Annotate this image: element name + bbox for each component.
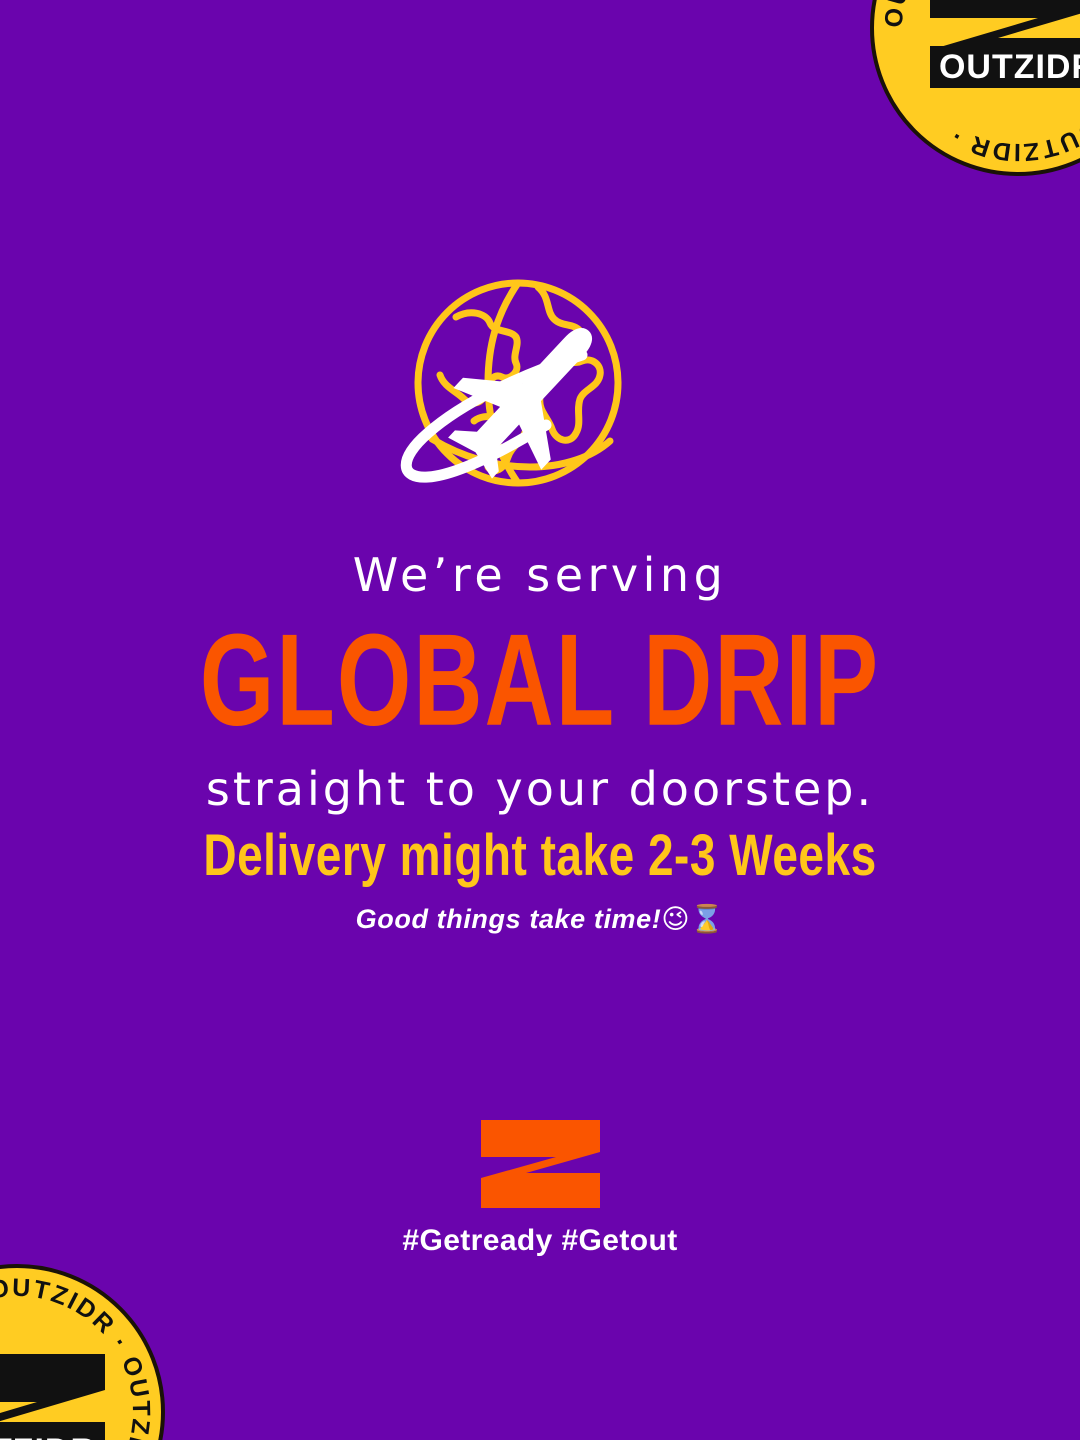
footer-block: #Getready #Getout xyxy=(0,1118,1080,1258)
svg-text:OUTZIDR: OUTZIDR xyxy=(0,1432,96,1440)
poster-canvas: OUTZIDR · OUTZIDR · OUTZIDR · OUTZIDR · … xyxy=(0,0,1080,1440)
svg-text:OUTZIDR: OUTZIDR xyxy=(939,48,1080,86)
delivery-subtext-label: Good things take time! xyxy=(356,904,662,934)
delivery-headline: Delivery might take 2-3 Weeks xyxy=(0,820,1080,891)
tagline-text: straight to your doorstep. xyxy=(0,762,1080,816)
wink-emoji-icon: 😉 xyxy=(661,904,690,935)
delivery-subtext: Good things take time!😉⌛ xyxy=(0,903,1080,935)
headline-block: We’re serving GLOBAL DRIP straight to yo… xyxy=(0,548,1080,817)
hashtags-text: #Getready #Getout xyxy=(0,1224,1080,1258)
badge-center-z-top-right: OUTZIDR xyxy=(930,0,1080,88)
hourglass-emoji-icon: ⌛ xyxy=(690,904,724,935)
badge-bottom-left: OUTZIDR · OUTZIDR · OUTZIDR · OUTZIDR · … xyxy=(0,1262,167,1440)
hero-illustration xyxy=(0,262,1080,520)
z-logo xyxy=(478,1118,603,1210)
page-title: GLOBAL DRIP xyxy=(0,614,1080,750)
badge-top-right: OUTZIDR · OUTZIDR · OUTZIDR · OUTZIDR · … xyxy=(868,0,1080,178)
globe-airplane-icon xyxy=(370,271,710,511)
delivery-block: Delivery might take 2-3 Weeks Good thing… xyxy=(0,820,1080,935)
eyebrow-text: We’re serving xyxy=(0,548,1080,602)
